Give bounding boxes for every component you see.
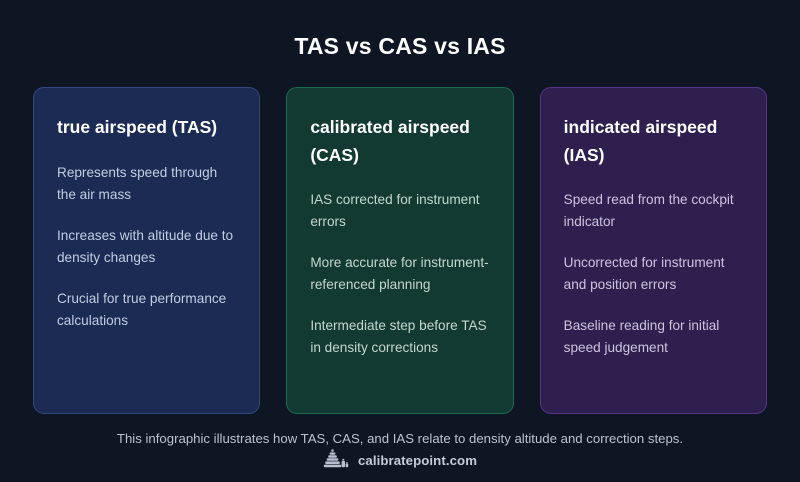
card-point: Speed read from the cockpit indicator bbox=[564, 189, 743, 233]
card-point: Uncorrected for instrument and position … bbox=[564, 252, 743, 296]
infographic-page: TAS vs CAS vs IAS true airspeed (TAS) Re… bbox=[0, 0, 800, 482]
card-true-airspeed: true airspeed (TAS) Represents speed thr… bbox=[33, 87, 260, 414]
page-title: TAS vs CAS vs IAS bbox=[0, 33, 800, 60]
card-indicated-airspeed: indicated airspeed (IAS) Speed read from… bbox=[540, 87, 767, 414]
brand-lockup: calibratepoint.com bbox=[0, 449, 800, 471]
card-point: Intermediate step before TAS in density … bbox=[310, 315, 489, 359]
card-group: true airspeed (TAS) Represents speed thr… bbox=[33, 87, 767, 414]
card-point: IAS corrected for instrument errors bbox=[310, 189, 489, 233]
card-heading: calibrated airspeed (CAS) bbox=[310, 114, 489, 169]
card-point: More accurate for instrument-referenced … bbox=[310, 252, 489, 296]
stacked-weights-icon bbox=[323, 449, 349, 471]
card-body: IAS corrected for instrument errors More… bbox=[310, 189, 489, 359]
card-point: Increases with altitude due to density c… bbox=[57, 225, 236, 269]
card-heading: indicated airspeed (IAS) bbox=[564, 114, 743, 169]
card-calibrated-airspeed: calibrated airspeed (CAS) IAS corrected … bbox=[286, 87, 513, 414]
card-body: Represents speed through the air mass In… bbox=[57, 162, 236, 332]
card-point: Baseline reading for initial speed judge… bbox=[564, 315, 743, 359]
brand-name: calibratepoint.com bbox=[358, 453, 477, 468]
card-heading: true airspeed (TAS) bbox=[57, 114, 236, 142]
card-point: Crucial for true performance calculation… bbox=[57, 288, 236, 332]
card-point: Represents speed through the air mass bbox=[57, 162, 236, 206]
footer-caption: This infographic illustrates how TAS, CA… bbox=[0, 431, 800, 446]
card-body: Speed read from the cockpit indicator Un… bbox=[564, 189, 743, 359]
